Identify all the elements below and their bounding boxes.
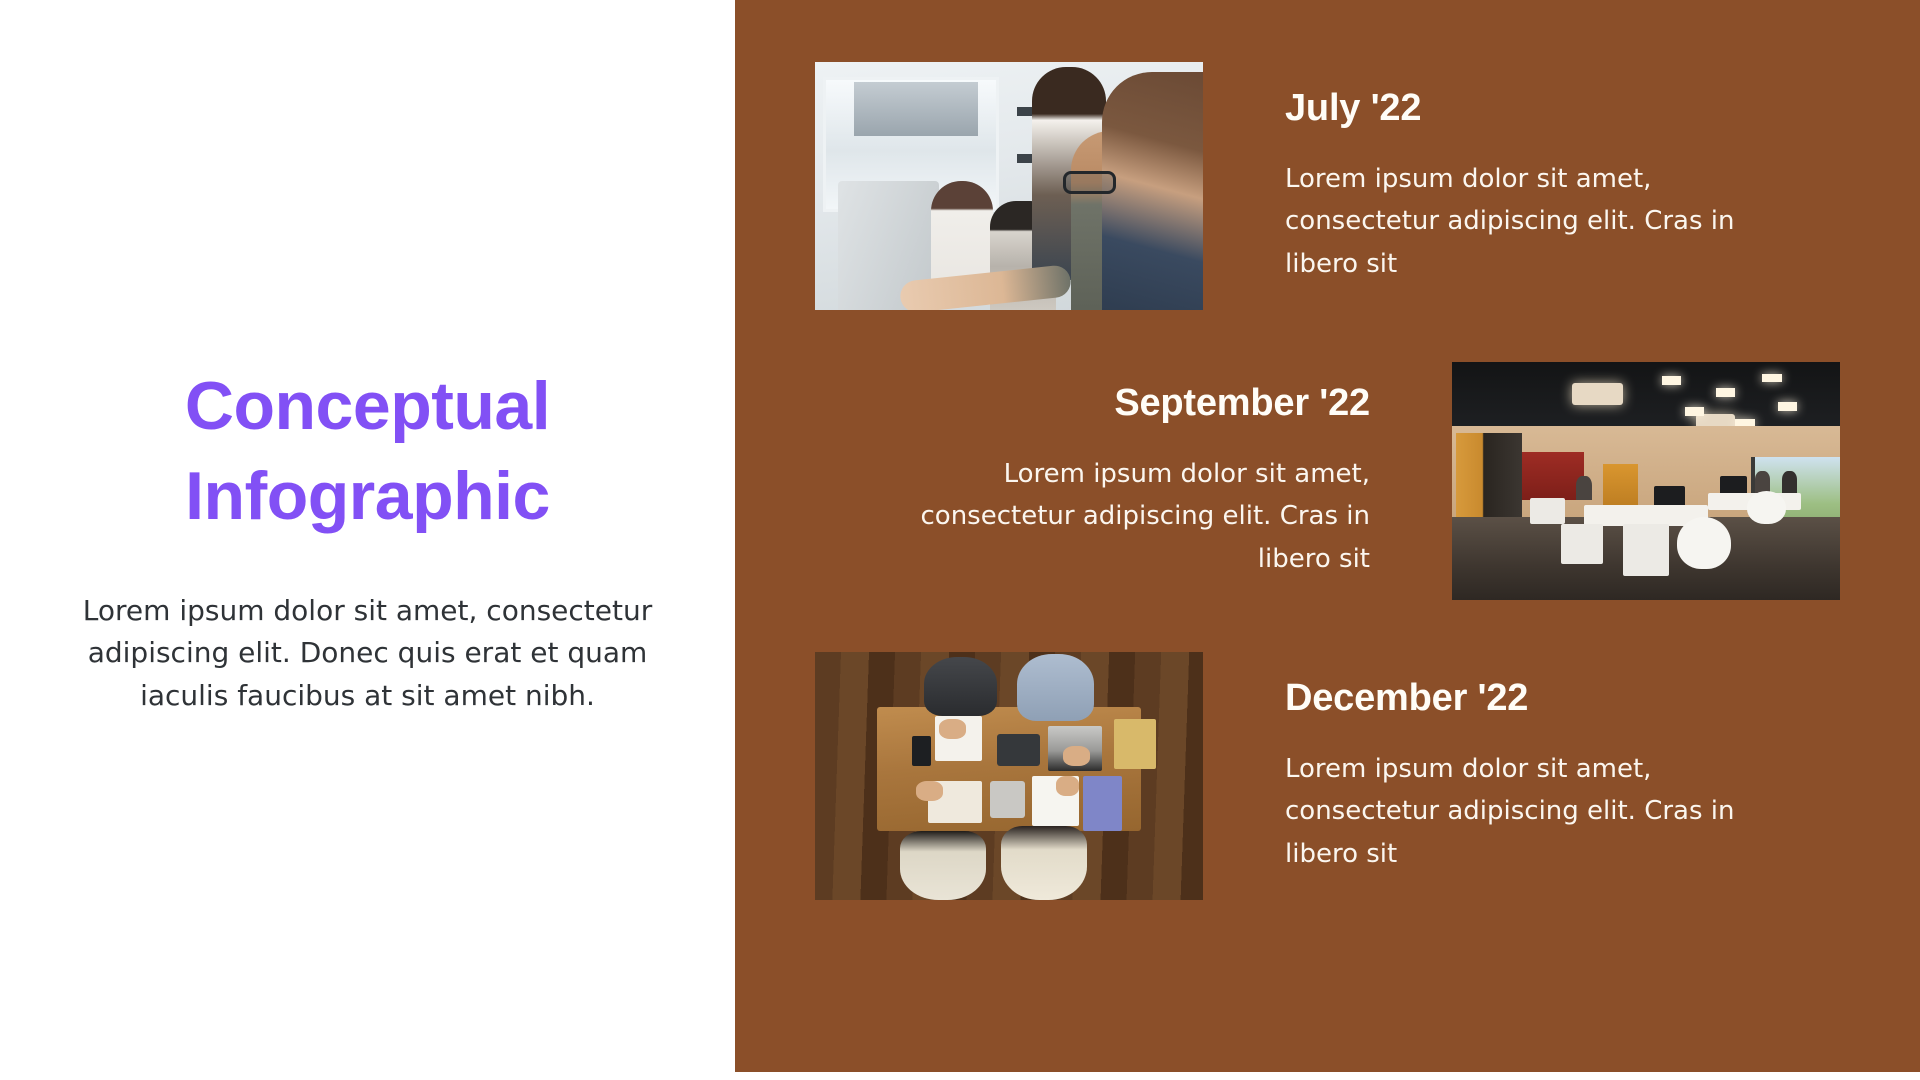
hand-shape: [939, 719, 966, 739]
ceiling-light-shape: [1778, 402, 1797, 410]
photo-open-plan-office: [1452, 362, 1840, 600]
left-title-panel: Conceptual Infographic Lorem ipsum dolor…: [0, 0, 735, 1080]
page-subtitle: Lorem ipsum dolor sit amet, consectetur …: [80, 590, 655, 718]
ceiling-light-shape: [1662, 376, 1681, 384]
timeline-text-september: September '22 Lorem ipsum dolor sit amet…: [815, 382, 1452, 579]
timeline-body: Lorem ipsum dolor sit amet, consectetur …: [1285, 748, 1755, 874]
cabinet-shape: [1561, 524, 1604, 564]
doorway-shape: [1456, 433, 1522, 519]
timeline-body: Lorem ipsum dolor sit amet, consectetur …: [1285, 158, 1755, 284]
timeline-heading: September '22: [815, 382, 1370, 425]
timeline-text-july: July '22 Lorem ipsum dolor sit amet, con…: [1203, 87, 1840, 284]
title-block: Conceptual Infographic Lorem ipsum dolor…: [80, 362, 655, 717]
timeline-item-december: December '22 Lorem ipsum dolor sit amet,…: [815, 652, 1840, 900]
cabinet-shape: [1623, 524, 1670, 576]
photo-team-at-computer: [815, 62, 1203, 310]
glasses-shape: [1063, 171, 1116, 194]
chair-shape: [1747, 491, 1786, 524]
ceiling-light-shape: [1762, 374, 1781, 382]
tablet-shape: [997, 734, 1040, 766]
timeline-item-september: September '22 Lorem ipsum dolor sit amet…: [815, 362, 1840, 600]
window-blind-shape: [854, 82, 978, 137]
person-shape: [1755, 471, 1771, 492]
page-title: Conceptual Infographic: [80, 362, 655, 542]
folder-shape: [1083, 776, 1122, 831]
hand-shape: [1063, 746, 1090, 766]
tablet-shape: [990, 781, 1025, 818]
cabinet-shape: [1530, 498, 1565, 524]
infographic-slide: Conceptual Infographic Lorem ipsum dolor…: [0, 0, 1920, 1080]
photo-overhead-meeting-table: [815, 652, 1203, 900]
timeline-heading: July '22: [1285, 87, 1840, 130]
pendant-lamp-shape: [1572, 383, 1622, 404]
hand-shape: [1056, 776, 1079, 796]
person-shape: [1102, 72, 1203, 310]
chair-shape: [1677, 517, 1731, 569]
ceiling-light-shape: [1685, 407, 1704, 415]
red-room-shape: [1522, 452, 1584, 500]
person-shape: [1001, 826, 1086, 900]
timeline-body: Lorem ipsum dolor sit amet, consectetur …: [900, 453, 1370, 579]
timeline-text-december: December '22 Lorem ipsum dolor sit amet,…: [1203, 677, 1840, 874]
timeline-panel: July '22 Lorem ipsum dolor sit amet, con…: [735, 0, 1920, 1072]
person-shape: [924, 657, 998, 717]
person-shape: [1017, 654, 1095, 721]
bottom-margin-strip: [0, 1072, 1920, 1080]
calculator-shape: [912, 736, 931, 766]
person-shape: [1782, 471, 1798, 492]
folder-shape: [1114, 719, 1157, 769]
ceiling-light-shape: [1716, 388, 1735, 396]
hand-shape: [916, 781, 943, 801]
person-shape: [1576, 476, 1592, 500]
timeline-heading: December '22: [1285, 677, 1840, 720]
timeline-item-july: July '22 Lorem ipsum dolor sit amet, con…: [815, 62, 1840, 310]
person-shape: [900, 831, 985, 900]
